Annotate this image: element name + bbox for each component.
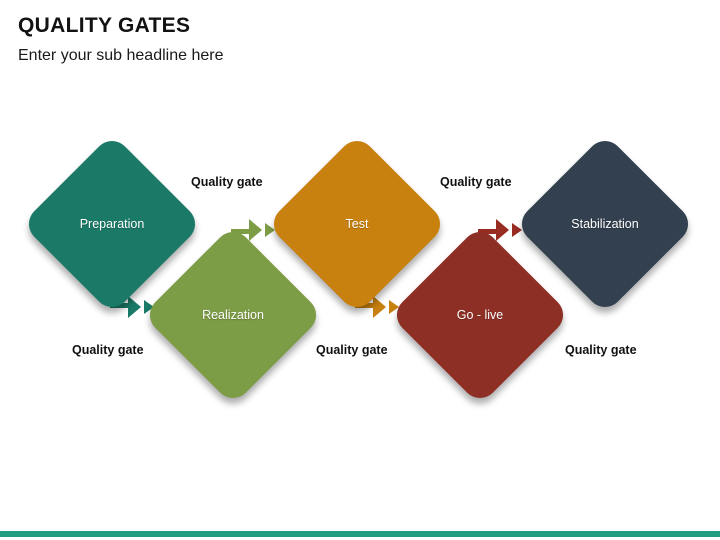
diamond-node-realization[interactable]: Realization: [169, 251, 297, 379]
diamond-node-stabilization[interactable]: Stabilization: [541, 160, 669, 288]
page-title: QUALITY GATES: [18, 14, 190, 38]
gate-1-label: Quality gate: [72, 343, 144, 357]
gate-2-label: Quality gate: [191, 175, 263, 189]
gate-4-label: Quality gate: [440, 175, 512, 189]
gate-3-label: Quality gate: [316, 343, 388, 357]
slide-canvas: QUALITY GATES Enter your sub headline he…: [0, 0, 720, 540]
gate-5-label: Quality gate: [565, 343, 637, 357]
diamond-node-preparation[interactable]: Preparation: [48, 160, 176, 288]
footer-accent-bar: [0, 531, 720, 537]
diamond-node-test[interactable]: Test: [293, 160, 421, 288]
diamond-node-go-live[interactable]: Go - live: [416, 251, 544, 379]
page-subtitle: Enter your sub headline here: [18, 47, 223, 65]
